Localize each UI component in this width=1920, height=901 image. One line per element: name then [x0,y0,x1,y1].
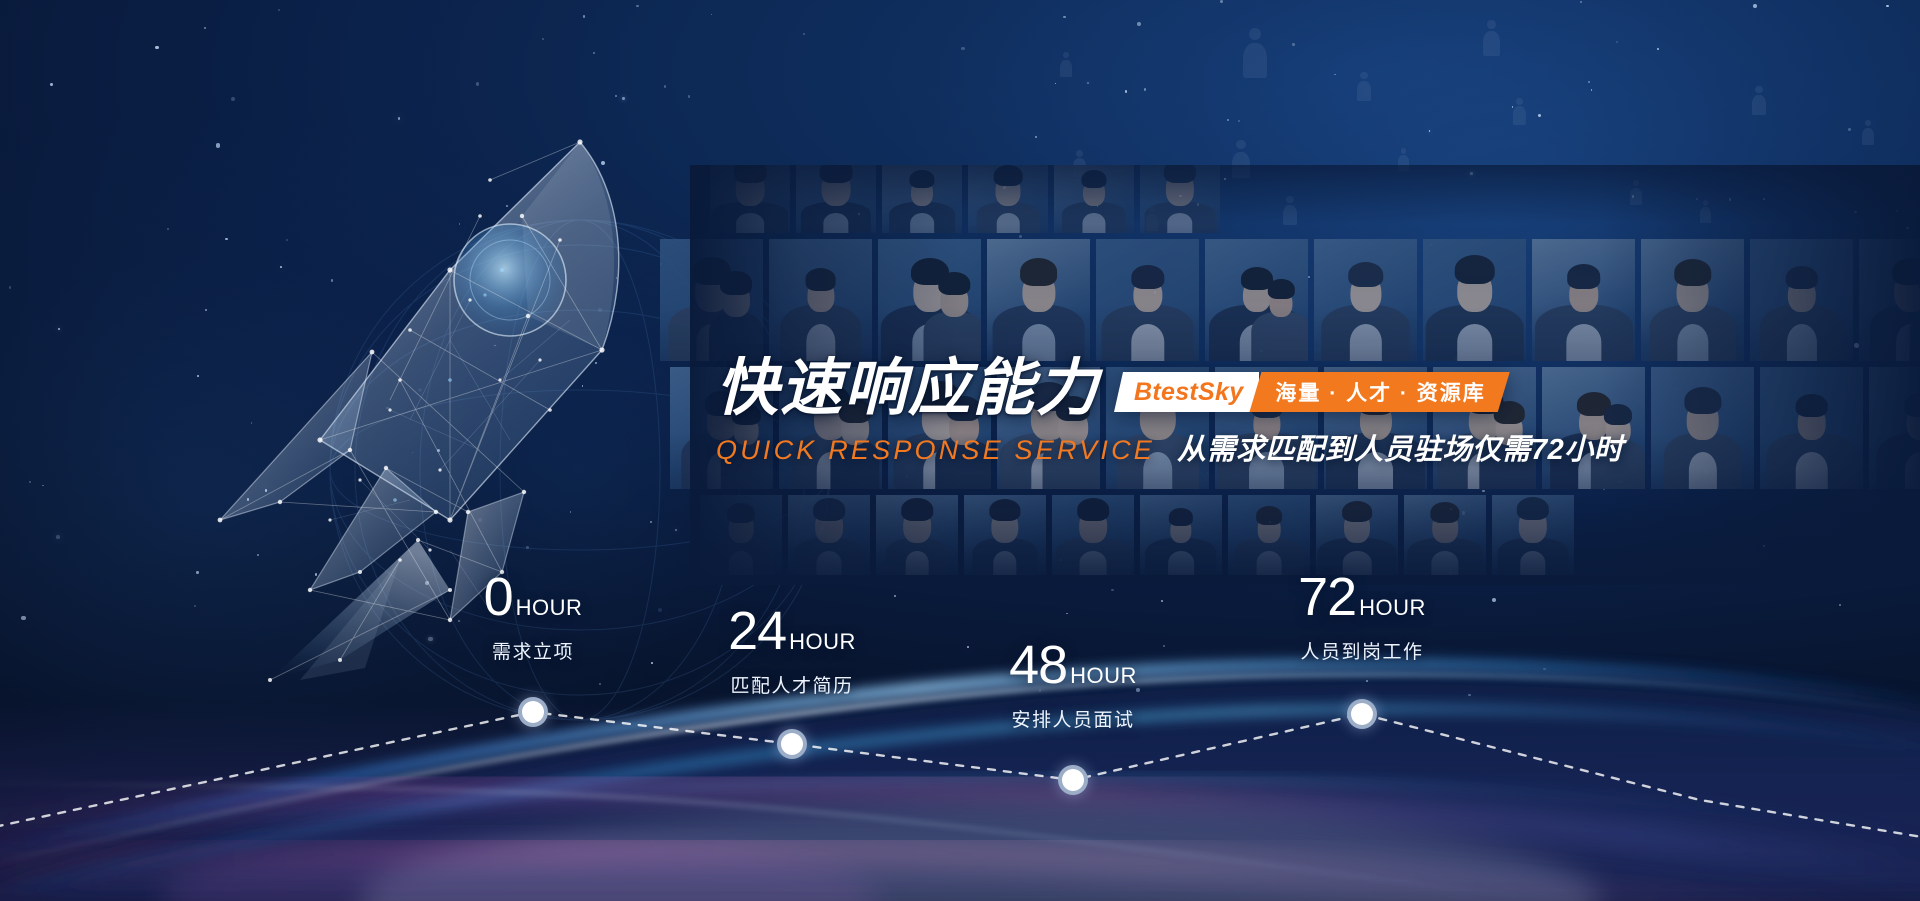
star-dot [1161,600,1163,602]
star-dot [636,5,638,7]
star-dot [459,223,461,225]
star-dot [1854,343,1859,348]
star-dot [1125,90,1128,93]
star-dot [1543,668,1545,670]
timeline-step-value: 24 [728,606,786,657]
star-dot [1436,521,1438,523]
mosaic-photo-tile [1641,239,1744,361]
star-dot [278,9,279,10]
star-dot [1538,114,1541,117]
timeline-step-label: 匹配人才简历 [728,671,856,698]
star-dot [412,452,414,454]
mosaic-photo-tile [1750,239,1853,361]
timeline-node-icon[interactable] [1058,765,1088,795]
star-dot [616,277,618,279]
star-dot [1729,198,1731,200]
mosaic-photo-tile [1859,239,1920,361]
star-dot [1758,295,1759,296]
star-dot [42,485,44,487]
star-dot [458,620,460,622]
mosaic-photo-tile [1140,165,1220,233]
star-dot [398,117,401,120]
badge-brand-name: BtestSky [1114,372,1259,412]
star-dot [664,85,666,87]
star-dot [1136,688,1140,692]
star-dot [1019,235,1022,238]
mosaic-row [660,239,1920,361]
star-dot [1838,476,1839,477]
star-dot [231,97,235,101]
star-dot [1060,559,1062,561]
mosaic-photo-tile [700,495,782,575]
star-dot [1260,350,1262,352]
star-dot [1224,178,1226,180]
star-dot [1450,572,1452,574]
star-dot [1839,604,1842,607]
star-dot [1003,186,1005,188]
mosaic-photo-tile [1054,165,1134,233]
star-dot [650,521,652,523]
star-dot [1512,106,1514,108]
star-dot [1179,195,1181,197]
star-dot [1591,89,1592,90]
mosaic-photo-tile [1205,239,1308,361]
star-dot [196,571,199,574]
star-dot [1385,319,1387,321]
person-silhouette-icon [1232,140,1250,178]
star-dot [425,581,429,585]
star-dot [21,616,25,620]
mosaic-photo-tile [1096,239,1199,361]
star-dot [1137,22,1141,26]
star-dot [331,279,334,282]
person-silhouette-icon [1700,200,1711,223]
timeline-step-value: 48 [1009,640,1067,691]
mosaic-photo-tile [1140,495,1222,575]
mosaic-photo-tile [1492,495,1574,575]
star-dot [967,646,969,648]
star-dot [1087,82,1089,84]
star-dot [1220,0,1223,3]
star-dot [894,595,896,597]
star-dot [651,662,653,664]
star-dot [1334,74,1336,76]
star-dot [1906,227,1909,230]
star-dot [542,38,544,40]
star-dot [257,554,259,556]
mosaic-photo-tile [878,239,981,361]
star-dot [615,95,617,97]
star-dot [9,286,11,288]
star-dot [1753,4,1757,8]
star-dot [570,511,571,512]
star-dot [1848,128,1851,131]
star-dot [1763,198,1765,200]
star-dot [155,46,158,49]
mosaic-photo-tile [1760,367,1863,489]
star-dot [1603,488,1604,489]
person-silhouette-icon [1483,20,1500,56]
headline-english: QUICK RESPONSE SERVICE [716,435,1155,466]
star-dot [1292,43,1294,45]
person-silhouette-icon [1752,86,1766,115]
star-dot [194,605,196,607]
star-dot [50,83,53,86]
star-dot [1063,16,1065,18]
timeline-step: 24HOUR匹配人才简历 [728,606,856,698]
timeline-node-icon[interactable] [777,729,807,759]
star-dot [660,263,662,265]
mosaic-photo-tile [1532,239,1635,361]
star-dot [1468,694,1470,696]
star-dot [599,683,601,685]
rocket-wireframe-icon [150,120,670,700]
star-dot [1450,508,1453,511]
star-dot [1619,481,1621,483]
mosaic-photo-tile [769,239,872,361]
star-dot [1035,136,1037,138]
star-dot [1696,198,1697,199]
mosaic-photo-tile [1423,239,1526,361]
person-silhouette-icon [1060,52,1072,77]
star-dot [437,449,440,452]
star-dot [494,345,496,347]
star-dot [595,362,597,364]
mosaic-photo-tile [1869,367,1920,489]
timeline-step-unit: HOUR [789,629,856,655]
star-dot [197,375,199,377]
timeline-node-icon[interactable] [1347,699,1377,729]
timeline-step-unit: HOUR [516,595,583,621]
star-dot [1238,120,1240,122]
star-dot [526,546,529,549]
star-dot [1429,130,1431,132]
person-silhouette-icon [1357,72,1371,101]
timeline-step: 48HOUR安排人员面试 [1009,640,1137,732]
star-dot [1854,211,1856,213]
star-dot [1832,425,1833,426]
star-dot [265,489,267,491]
star-dot [428,637,432,641]
star-dot [978,481,980,483]
person-silhouette-icon [1073,150,1086,177]
mosaic-photo-tile [876,495,958,575]
star-dot [1632,195,1634,197]
star-dot [906,475,908,477]
star-dot [711,14,713,16]
timeline-step-label: 人员到岗工作 [1298,637,1426,664]
star-dot [1066,613,1068,615]
star-dot [805,241,808,244]
mosaic-photo-tile [1316,495,1398,575]
star-dot [1763,545,1765,547]
star-dot [280,266,282,268]
star-dot [315,573,318,576]
star-dot [1678,278,1680,280]
star-dot [1705,471,1707,473]
timeline-step-label: 需求立项 [484,637,583,664]
person-silhouette-icon [1630,180,1642,205]
mosaic-row [700,495,1574,575]
person-silhouette-icon [1513,98,1526,125]
timeline-step-unit: HOUR [1359,595,1426,621]
star-dot [205,309,207,311]
star-dot [251,422,253,424]
star-dot [204,27,206,29]
star-dot [1197,203,1199,205]
star-dot [1492,598,1496,602]
person-silhouette-icon [1146,206,1158,231]
star-dot [1616,41,1618,43]
star-dot [216,143,220,147]
background-glow-top-right [900,0,1920,640]
star-dot [1470,172,1473,175]
mosaic-photo-tile [710,165,790,233]
star-dot [1111,589,1113,591]
headline-chinese: 快速响应能力 [716,358,1100,420]
star-dot [1154,291,1157,294]
star-dot [56,535,60,539]
star-dot [570,653,572,655]
star-dot [1055,83,1057,85]
star-dot [1588,81,1590,83]
timeline-step-value: 0 [484,572,513,623]
star-dot [582,385,583,386]
mosaic-photo-tile [1314,239,1417,361]
star-dot [1896,210,1898,212]
star-dot [1674,388,1676,390]
banner-stage: 快速响应能力 BtestSky 海量 · 人才 · 资源库 QUICK RESP… [0,0,1920,901]
headline-tagline: 从需求匹配到人员驻场仅需72小时 [1177,426,1623,468]
star-dot [286,239,288,241]
mosaic-photo-tile [987,239,1090,361]
person-silhouette-icon [1243,28,1267,78]
mosaic-row [710,165,1220,233]
star-dot [1163,645,1165,647]
timeline-step: 72HOUR人员到岗工作 [1298,572,1426,664]
timeline-step-label: 安排人员面试 [1009,705,1137,732]
mosaic-photo-tile [796,165,876,233]
star-dot [1482,490,1485,493]
star-dot [675,529,677,531]
star-dot [1657,48,1659,50]
star-dot [506,205,508,207]
person-silhouette-icon [1398,148,1409,171]
timeline-node-icon[interactable] [518,697,548,727]
mosaic-photo-tile [968,165,1048,233]
star-dot [738,262,740,264]
star-dot [1308,276,1311,279]
mosaic-photo-tile [788,495,870,575]
star-dot [583,15,585,17]
star-dot [167,228,169,230]
star-dot [622,97,625,100]
star-dot [1462,511,1466,515]
star-dot [601,161,605,165]
star-dot [961,47,965,51]
mosaic-photo-tile [1651,367,1754,489]
mosaic-photo-tile [1228,495,1310,575]
star-dot [1430,244,1432,246]
badge-slogan: 海量 · 人才 · 资源库 [1249,372,1509,412]
star-dot [1366,680,1368,682]
star-dot [688,95,691,98]
mosaic-photo-tile [1052,495,1134,575]
star-dot [247,498,249,500]
aurora-light-streaks [0,571,1920,901]
star-dot [593,52,595,54]
star-dot [1039,689,1041,691]
mosaic-photo-tile [964,495,1046,575]
star-dot [1144,88,1146,90]
timeline-step-unit: HOUR [1070,663,1137,689]
headline-block: 快速响应能力 BtestSky 海量 · 人才 · 资源库 QUICK RESP… [716,358,1623,468]
star-dot [29,481,31,483]
star-dot [1886,5,1888,7]
star-dot [225,238,228,241]
timeline-step: 0HOUR需求立项 [484,572,583,664]
globe-wireframe-icon [300,190,860,750]
star-dot [58,328,61,331]
star-dot [803,33,805,35]
person-silhouette-icon [1283,196,1297,225]
star-dot [1580,1,1582,3]
star-dot [476,82,479,85]
mosaic-photo-tile [1404,495,1486,575]
brand-badge: BtestSky 海量 · 人才 · 资源库 [1114,372,1510,412]
star-dot [858,213,860,215]
mosaic-photo-tile [660,239,763,361]
background-glow-left [0,120,700,880]
timeline-step-value: 72 [1298,572,1356,623]
star-dot [1227,119,1229,121]
person-silhouette-icon [1862,120,1874,145]
star-dot [1269,521,1271,523]
star-dot [1097,205,1099,207]
star-dot [1207,472,1209,474]
star-dot [386,407,388,409]
star-dot [1469,241,1471,243]
mosaic-photo-tile [882,165,962,233]
